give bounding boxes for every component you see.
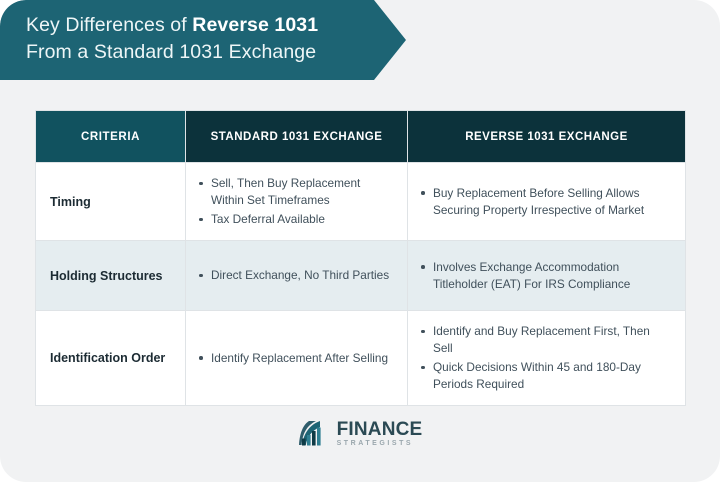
table-row: TimingSell, Then Buy Replacement Within …	[36, 163, 686, 241]
table-header-row: CRITERIA STANDARD 1031 EXCHANGE REVERSE …	[36, 111, 686, 163]
cell-standard: Identify Replacement After Selling	[186, 311, 408, 406]
brand-logo: FINANCE STRATEGISTS	[0, 412, 720, 454]
bullet-item: Involves Exchange Accommodation Titlehol…	[418, 259, 671, 293]
column-header-criteria: CRITERIA	[36, 111, 186, 163]
bullet-list: Buy Replacement Before Selling Allows Se…	[418, 185, 671, 219]
logo-secondary-text: STRATEGISTS	[337, 440, 423, 447]
bullet-list: Sell, Then Buy Replacement Within Set Ti…	[196, 175, 393, 228]
cell-reverse: Buy Replacement Before Selling Allows Se…	[408, 163, 686, 241]
finance-strategists-logo-icon	[298, 418, 332, 448]
table-body: TimingSell, Then Buy Replacement Within …	[36, 163, 686, 406]
cell-standard: Direct Exchange, No Third Parties	[186, 241, 408, 311]
column-header-standard-1031: STANDARD 1031 EXCHANGE	[186, 111, 408, 163]
comparison-table: CRITERIA STANDARD 1031 EXCHANGE REVERSE …	[35, 110, 686, 406]
bullet-item: Buy Replacement Before Selling Allows Se…	[418, 185, 671, 219]
cell-reverse: Involves Exchange Accommodation Titlehol…	[408, 241, 686, 311]
column-header-reverse-1031: REVERSE 1031 EXCHANGE	[408, 111, 686, 163]
bullet-list: Direct Exchange, No Third Parties	[196, 267, 393, 284]
bullet-list: Identify Replacement After Selling	[196, 350, 393, 367]
bullet-item: Identify Replacement After Selling	[196, 350, 393, 367]
bullet-item: Sell, Then Buy Replacement Within Set Ti…	[196, 175, 393, 209]
cell-criteria: Identification Order	[36, 311, 186, 406]
table-row: Holding StructuresDirect Exchange, No Th…	[36, 241, 686, 311]
page-title: Key Differences of Reverse 1031 From a S…	[26, 12, 406, 66]
logo-wordmark: FINANCE STRATEGISTS	[337, 419, 423, 447]
bullet-item: Tax Deferral Available	[196, 211, 393, 228]
cell-criteria: Timing	[36, 163, 186, 241]
bullet-list: Involves Exchange Accommodation Titlehol…	[418, 259, 671, 293]
bullet-item: Quick Decisions Within 45 and 180-Day Pe…	[418, 359, 671, 393]
bullet-item: Direct Exchange, No Third Parties	[196, 267, 393, 284]
infographic-card: Key Differences of Reverse 1031 From a S…	[0, 0, 720, 482]
cell-criteria: Holding Structures	[36, 241, 186, 311]
cell-standard: Sell, Then Buy Replacement Within Set Ti…	[186, 163, 408, 241]
bullet-item: Identify and Buy Replacement First, Then…	[418, 323, 671, 357]
header-banner: Key Differences of Reverse 1031 From a S…	[0, 0, 406, 80]
table-row: Identification OrderIdentify Replacement…	[36, 311, 686, 406]
logo-primary-text: FINANCE	[337, 420, 423, 439]
cell-reverse: Identify and Buy Replacement First, Then…	[408, 311, 686, 406]
bullet-list: Identify and Buy Replacement First, Then…	[418, 323, 671, 393]
